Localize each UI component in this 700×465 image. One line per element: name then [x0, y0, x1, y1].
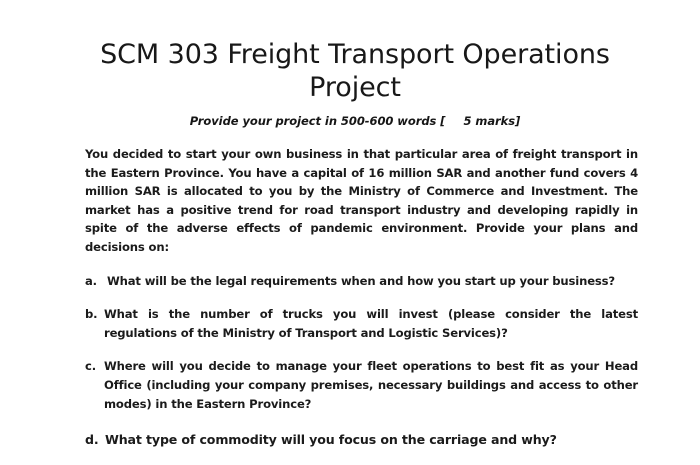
- question-item-d: d.What type of commodity will you focus …: [85, 431, 638, 450]
- question-marker-b: b.: [85, 305, 97, 324]
- question-text-d: What type of commodity will you focus on…: [105, 432, 557, 447]
- document-page: SCM 303 Freight Transport Operations Pro…: [0, 0, 700, 465]
- question-text-c: Where will you decide to manage your fle…: [104, 359, 638, 410]
- page-title-line-1: SCM 303 Freight Transport Operations: [60, 38, 650, 71]
- question-marker-d: d.: [85, 431, 99, 450]
- intro-paragraph: You decided to start your own business i…: [85, 145, 638, 257]
- page-title-line-2: Project: [60, 71, 650, 104]
- body-content: You decided to start your own business i…: [85, 145, 638, 450]
- subtitle-instruction-text: Provide your project in 500-600 words [: [190, 114, 446, 128]
- question-item-a: a.What will be the legal requirements wh…: [85, 272, 638, 291]
- subtitle-marks-note: Provide your project in 500-600 words [5…: [60, 114, 650, 128]
- question-marker-a: a.: [85, 272, 97, 291]
- question-text-b: What is the number of trucks you will in…: [104, 307, 638, 340]
- title-block: SCM 303 Freight Transport Operations Pro…: [60, 38, 650, 104]
- question-item-c: c.Where will you decide to manage your f…: [85, 357, 638, 413]
- question-marker-c: c.: [85, 357, 96, 376]
- questions-list: a.What will be the legal requirements wh…: [85, 272, 638, 450]
- question-item-b: b.What is the number of trucks you will …: [85, 305, 638, 342]
- question-text-a: What will be the legal requirements when…: [107, 274, 615, 288]
- subtitle-marks-value: 5 marks]: [463, 114, 520, 128]
